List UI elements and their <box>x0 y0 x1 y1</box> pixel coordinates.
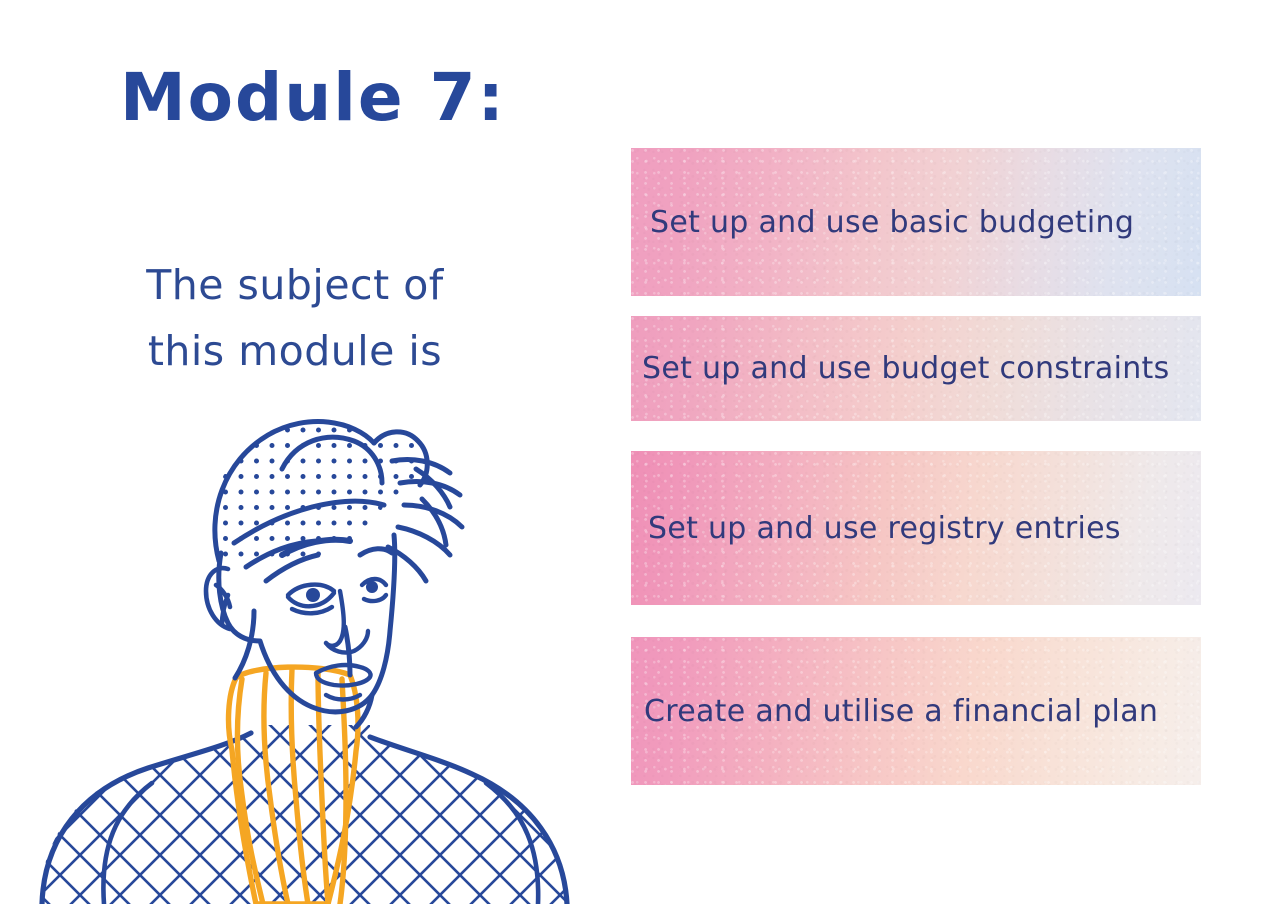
portrait-line-art-svg <box>20 395 600 904</box>
objective-band-2[interactable]: Set up and use budget constraints <box>631 316 1201 421</box>
page-title: Module 7: <box>120 62 506 135</box>
objective-band-1[interactable]: Set up and use basic budgeting <box>631 148 1201 296</box>
objective-band-4[interactable]: Create and utilise a financial plan <box>631 637 1201 785</box>
objective-band-3[interactable]: Set up and use registry entries <box>631 451 1201 605</box>
subject-statement: The subject of this module is <box>60 252 530 385</box>
objective-label-4: Create and utilise a financial plan <box>631 694 1158 729</box>
objectives-list: Set up and use basic budgeting Set up an… <box>631 0 1201 904</box>
portrait-illustration <box>20 395 600 904</box>
subject-line-2: this module is <box>60 318 530 384</box>
objective-label-1: Set up and use basic budgeting <box>631 205 1134 240</box>
slide-canvas: Module 7: The subject of this module is <box>0 0 1280 904</box>
left-column: Module 7: The subject of this module is <box>0 0 600 904</box>
sweater-body <box>20 715 600 904</box>
objective-label-3: Set up and use registry entries <box>631 511 1121 546</box>
objective-label-2: Set up and use budget constraints <box>631 351 1170 386</box>
subject-line-1: The subject of <box>60 252 530 318</box>
